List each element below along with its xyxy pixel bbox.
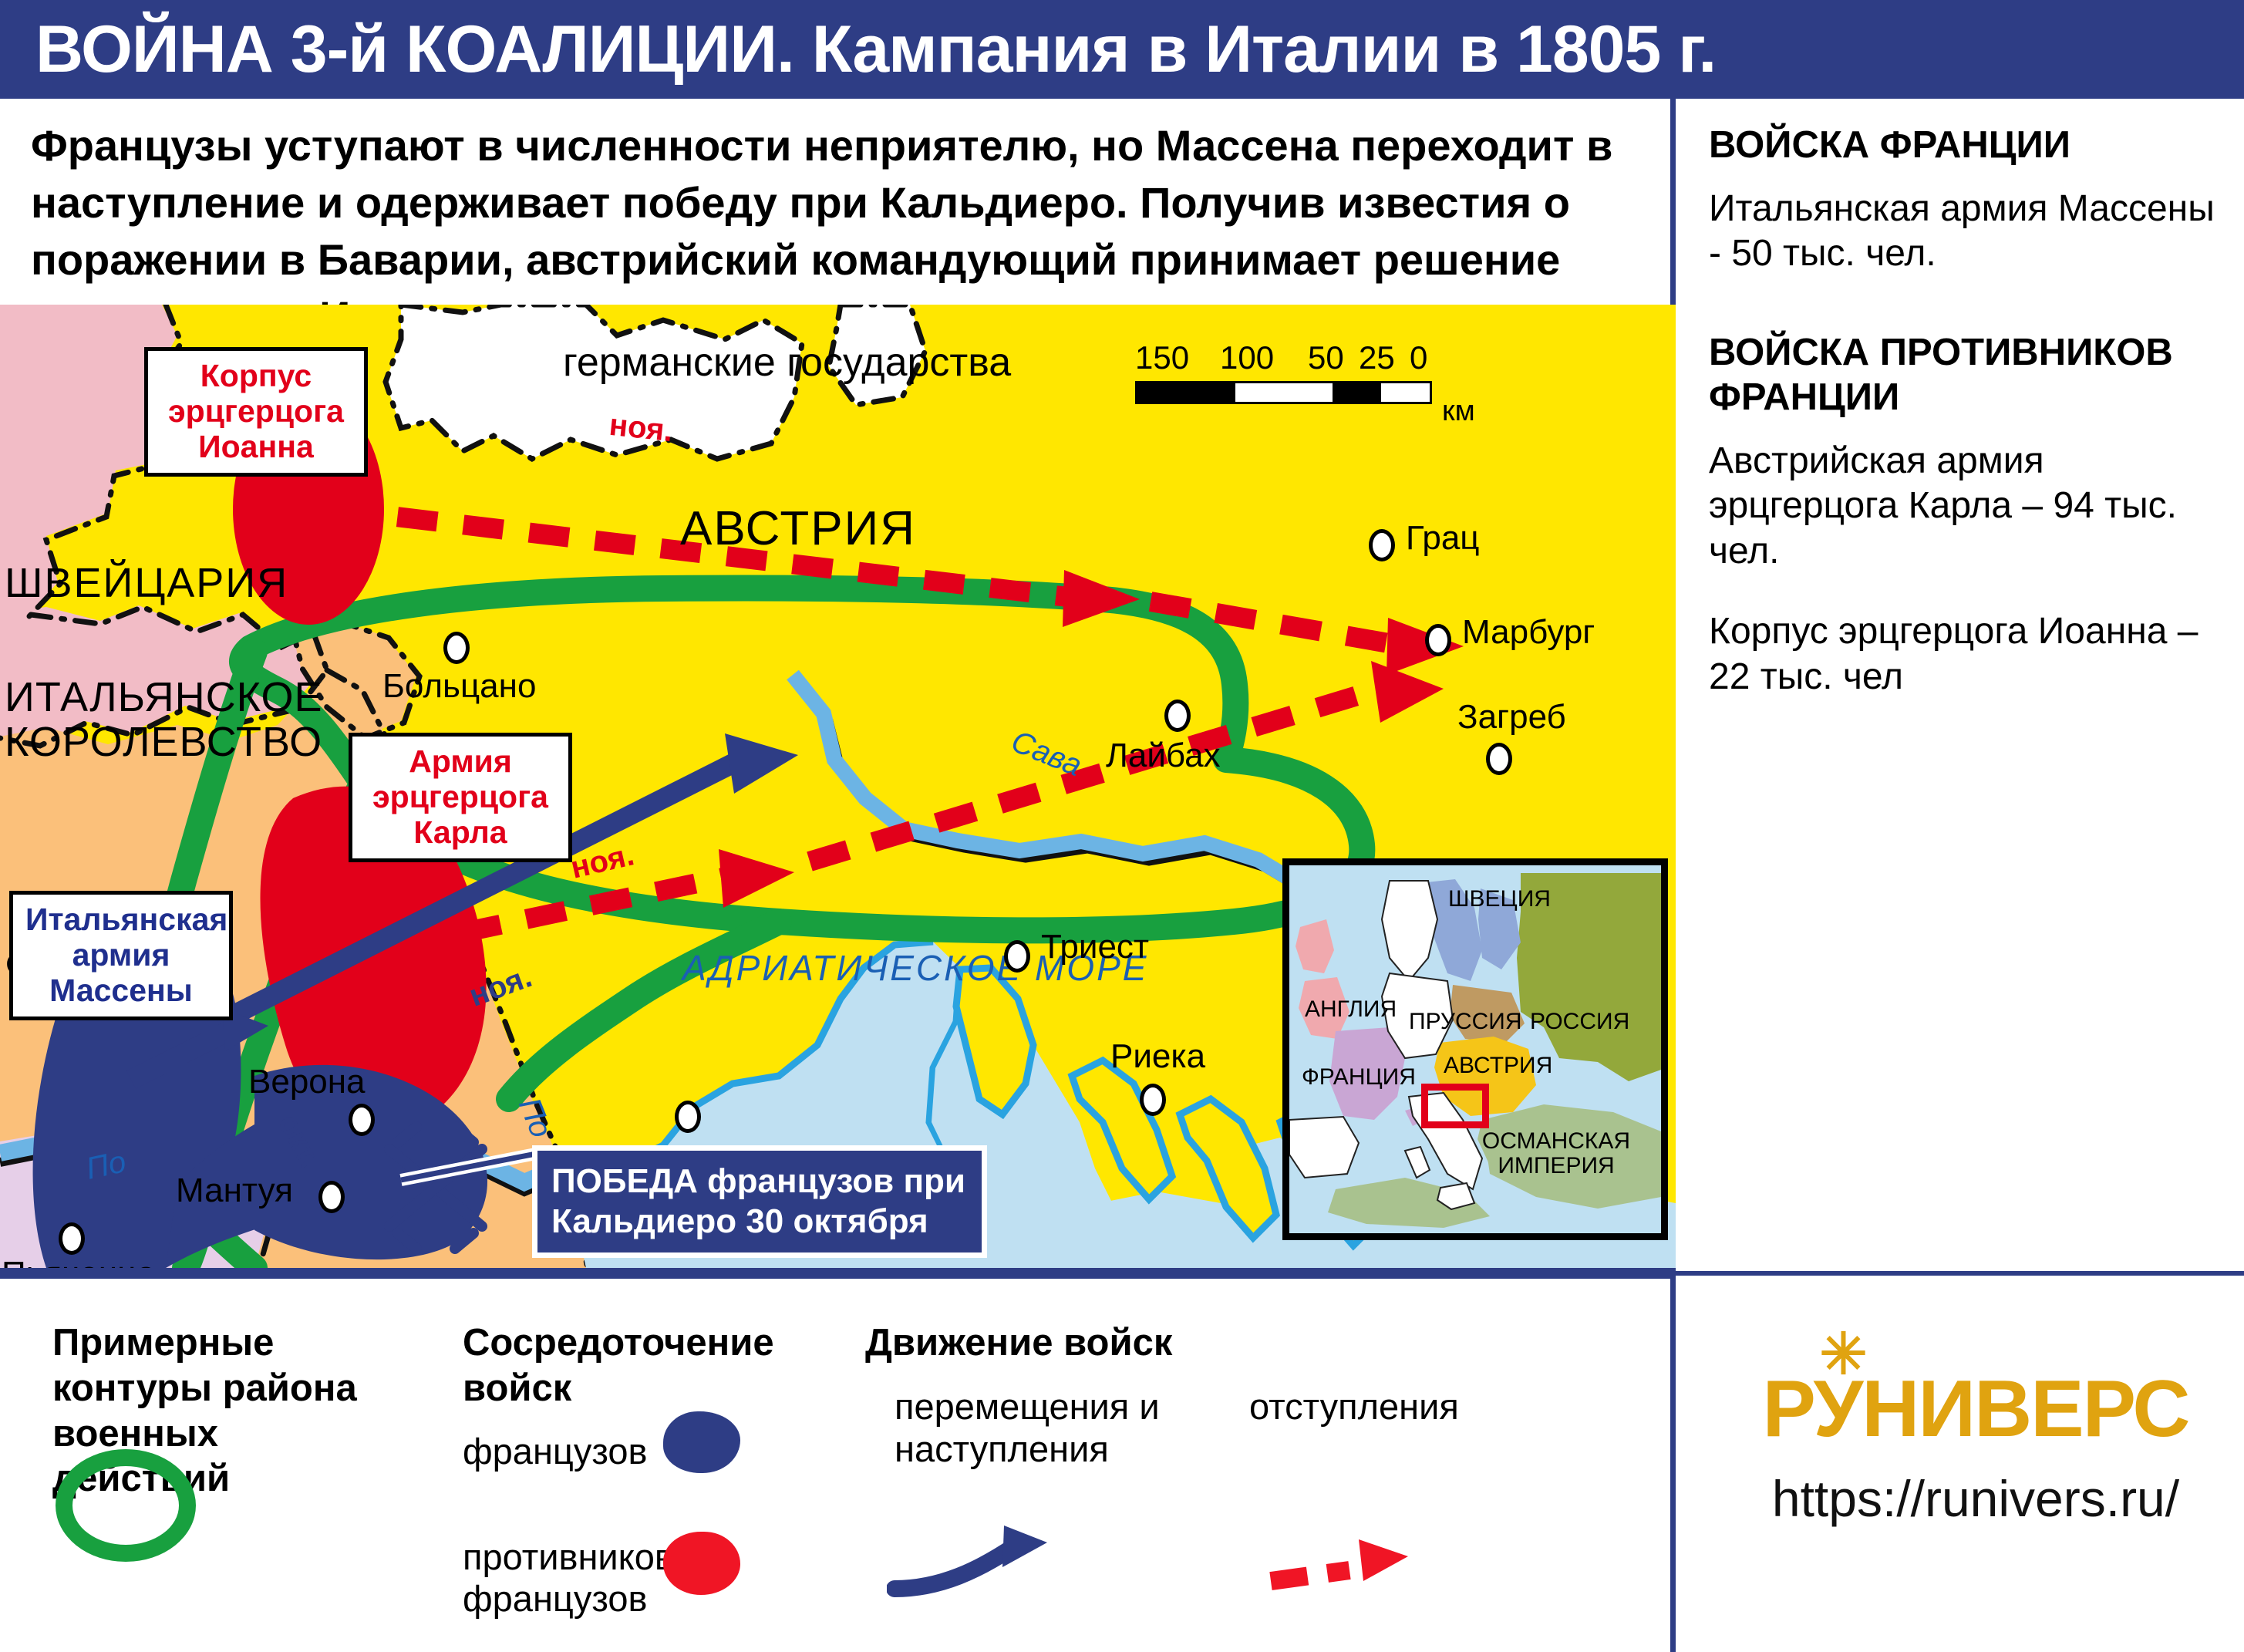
month-label-nov-north: ноя. [608, 408, 675, 449]
inset-label-england: АНГЛИЯ [1305, 996, 1397, 1023]
city-dot-trieste [1004, 940, 1030, 973]
legend-advance-arrow-icon [887, 1519, 1072, 1604]
sidebar-body-france: Итальянская армия Массены - 50 тыс. чел. [1709, 187, 2218, 277]
legend-label-advance: перемещения и наступления [895, 1385, 1188, 1471]
logo-url[interactable]: https://runivers.ru/ [1760, 1469, 2192, 1528]
legend-french-blob-icon [663, 1411, 740, 1473]
inset-label-russia: РОССИЯ [1530, 1009, 1629, 1035]
scale-tick-25: 25 [1359, 339, 1395, 376]
title-bar: ВОЙНА 3-й КОАЛИЦИИ. Кампания в Италии в … [0, 0, 2244, 99]
city-label-zagreb: Загреб [1457, 698, 1566, 737]
legend-enemy-blob-icon [663, 1532, 740, 1595]
callout-archduke-john-corps: Корпус эрцгерцога Иоанна [144, 347, 368, 477]
runivers-logo[interactable]: ✳ РУНИВЕРС https://runivers.ru/ [1760, 1369, 2192, 1528]
city-label-graz: Грац [1406, 519, 1480, 558]
inset-label-austria: АВСТРИЯ [1444, 1053, 1552, 1079]
logo-wordmark: ✳ РУНИВЕРС [1763, 1369, 2189, 1449]
city-label-mantua: Мантуя [176, 1172, 293, 1210]
city-label-marburg: Марбург [1462, 613, 1595, 652]
scale-tick-100: 100 [1220, 339, 1274, 376]
city-dot-graz [1369, 529, 1395, 561]
callout-victory-caldiero: ПОБЕДА французов при Кальдиеро 30 октябр… [532, 1145, 987, 1258]
city-dot-marburg [1425, 624, 1451, 656]
scale-ticks: 150 100 50 25 0 [1135, 339, 1432, 376]
city-dot-venice [675, 1101, 701, 1133]
region-label-austria: АВСТРИЯ [680, 501, 916, 556]
inset-highlight-box [1421, 1084, 1489, 1128]
callout-archduke-charles-army: Армия эрцгерцога Карла [349, 733, 572, 862]
map-legend: Примерные контуры района военных действи… [0, 1280, 1670, 1652]
city-dot-zagreb [1486, 743, 1512, 775]
city-label-bolzano: Больцано [382, 667, 536, 706]
legend-label-enemy-troops: противников французов [463, 1536, 694, 1619]
legend-label-french-troops: французов [463, 1430, 647, 1473]
scale-tick-50: 50 [1308, 339, 1344, 376]
sidebar-body-john-corps: Корпус эрцгерцога Иоанна – 22 тыс. чел [1709, 609, 2218, 700]
legend-title-concentration: Сосредоточение войск [463, 1320, 779, 1411]
legend-theatre-outline-icon [56, 1449, 196, 1562]
sidebar-heading-enemies: ВОЙСКА ПРОТИВНИКОВ ФРАНЦИИ [1709, 331, 2218, 420]
map-scale: 150 100 50 25 0 км [1135, 339, 1432, 404]
inset-label-france: ФРАНЦИЯ [1302, 1064, 1416, 1091]
city-dot-verona [349, 1104, 375, 1136]
sidebar-body-austria: Австрийская армия эрцгерцога Карла – 94 … [1709, 439, 2218, 575]
city-label-piacenza: Пьяченца [2, 1255, 156, 1268]
europe-inset-map[interactable]: ШВЕЦИЯ АНГЛИЯ ПРУССИЯ РОССИЯ ФРАНЦИЯ АВС… [1282, 858, 1668, 1240]
legend-label-retreat: отступления [1249, 1385, 1459, 1428]
star-icon: ✳ [1820, 1326, 1866, 1383]
city-label-laibach: Лайбах [1106, 737, 1221, 775]
city-label-rijeka: Риека [1110, 1037, 1205, 1076]
horizontal-divider [0, 1268, 1676, 1279]
troops-sidebar: ВОЙСКА ФРАНЦИИ Итальянская армия Массены… [1709, 123, 2218, 754]
city-dot-bolzano [443, 632, 470, 664]
city-dot-laibach [1164, 700, 1191, 732]
region-label-italian-kingdom: ИТАЛЬЯНСКОЕ КОРОЛЕВСТВО [5, 675, 336, 765]
region-label-german-states: германские государства [563, 339, 1011, 386]
callout-massena-army: Итальянская армия Массены [9, 891, 233, 1020]
city-label-verona: Верона [248, 1063, 366, 1101]
page-title: ВОЙНА 3-й КОАЛИЦИИ. Кампания в Италии в … [35, 11, 1716, 88]
inset-label-prussia: ПРУССИЯ [1409, 1009, 1522, 1035]
inset-label-ottoman-empire: ОСМАНСКАЯ ИМПЕРИЯ [1479, 1129, 1633, 1179]
campaign-map[interactable]: 150 100 50 25 0 км ШВЕЙЦАРИЯ ИТАЛЬЯНСКОЕ… [0, 305, 1676, 1268]
city-dot-rijeka [1140, 1084, 1166, 1116]
legend-title-movement: Движение войск [865, 1320, 1228, 1366]
scale-bar-graphic [1135, 381, 1432, 404]
scale-unit: км [1442, 395, 1475, 428]
city-dot-mantua [318, 1181, 345, 1213]
region-label-switzerland: ШВЕЙЦАРИЯ [5, 559, 288, 607]
city-label-trieste: Триест [1041, 928, 1149, 966]
sidebar-heading-france: ВОЙСКА ФРАНЦИИ [1709, 123, 2218, 168]
city-dot-piacenza [59, 1222, 85, 1255]
scale-tick-150: 150 [1135, 339, 1189, 376]
scale-tick-0: 0 [1410, 339, 1427, 376]
legend-retreat-arrow-icon [1265, 1526, 1450, 1603]
horizontal-divider-right [1676, 1271, 2244, 1276]
inset-label-sweden: ШВЕЦИЯ [1448, 886, 1551, 912]
